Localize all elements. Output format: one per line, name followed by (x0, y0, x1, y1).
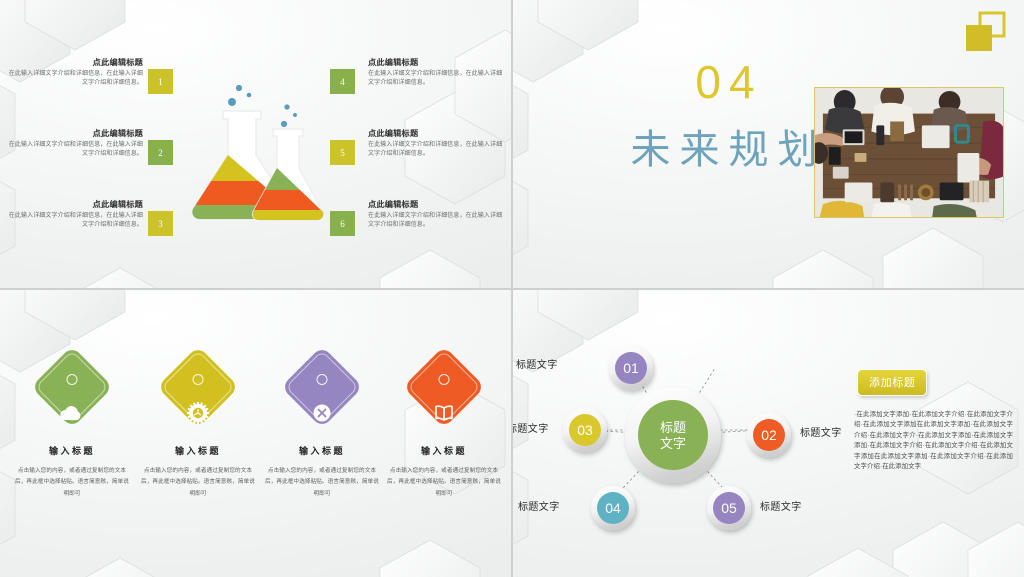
item-body: 在此输入详细文字介绍和详细信息，在此输入详细文字介绍和详细信息。 (368, 141, 505, 160)
diamond-circle-marker (317, 374, 328, 385)
center-label-line1: 标题 (660, 420, 686, 435)
list-item[interactable]: 5 点此编辑标题 在此输入详细文字介绍和详细信息，在此输入详细文字介绍和详细信息… (330, 129, 505, 191)
svg-text:02: 02 (761, 427, 777, 443)
svg-text:01: 01 (623, 360, 639, 376)
svg-text:03: 03 (577, 422, 593, 438)
item-title: 点此编辑标题 (368, 58, 505, 67)
item-body: 在此输入详细文字介绍和详细信息，在此输入详细文字介绍和详细信息。 (6, 212, 143, 231)
feature-card[interactable]: 输入标题 点击输入您的内容，或者通过复制您的文本后，再此框中选择粘贴。语言简意赅… (8, 356, 136, 500)
diamond-circle-marker (67, 374, 78, 385)
list-item[interactable]: 点此编辑标题 在此输入详细文字介绍和详细信息，在此输入详细文字介绍和详细信息。 … (6, 129, 181, 191)
feature-card[interactable]: 输入标题 点击输入您的内容，或者通过复制您的文本后，再此框中选择粘贴。语言简意赅… (134, 356, 262, 500)
slide-4-radial-diagram[interactable]: 标题 文字 01 02 03 04 (513, 290, 1024, 577)
diamond-circle-marker (193, 374, 204, 385)
card-title: 输入标题 (258, 444, 386, 457)
section-number: 04 (609, 59, 849, 105)
square-logo-mark (964, 11, 1007, 53)
item-number-badge: 6 (330, 211, 355, 236)
diamond-shape (31, 346, 113, 428)
radial-hub-diagram: 标题 文字 01 02 03 04 (523, 320, 823, 550)
diamond-circle-marker (439, 374, 450, 385)
feature-card[interactable]: 输入标题 点击输入您的内容，或者通过复制您的文本后，再此框中选择粘贴。语言简意赅… (258, 356, 386, 500)
item-body: 在此输入详细文字介绍和详细信息，在此输入详细文字介绍和详细信息。 (6, 141, 143, 160)
chemistry-flasks-icon (183, 62, 333, 227)
item-number-badge: 3 (148, 211, 173, 236)
diamond-shape (157, 346, 239, 428)
list-item[interactable]: 点此编辑标题 在此输入详细文字介绍和详细信息，在此输入详细文字介绍和详细信息。 … (6, 200, 181, 262)
right-item-column: 4 点此编辑标题 在此输入详细文字介绍和详细信息，在此输入详细文字介绍和详细信息… (330, 58, 505, 271)
card-title: 输入标题 (8, 444, 136, 457)
item-title: 点此编辑标题 (368, 129, 505, 138)
svg-text:04: 04 (605, 500, 621, 516)
team-meeting-overhead-photo (814, 87, 1004, 218)
item-title: 点此编辑标题 (368, 200, 505, 209)
item-number-badge: 1 (148, 69, 173, 94)
svg-text:05: 05 (721, 500, 737, 516)
diamond-shape (403, 346, 485, 428)
card-body: 点击输入您的内容，或者通过复制您的文本后，再此框中选择粘贴。语言简意赅，简单说明… (258, 466, 386, 500)
list-item[interactable]: 4 点此编辑标题 在此输入详细文字介绍和详细信息，在此输入详细文字介绍和详细信息… (330, 58, 505, 120)
item-title: 点此编辑标题 (6, 200, 143, 209)
node-label-04: 标题文字 (518, 498, 560, 513)
slide-3-four-features[interactable]: 输入标题 点击输入您的内容，或者通过复制您的文本后，再此框中选择粘贴。语言简意赅… (0, 290, 511, 577)
card-body: 点击输入您的内容，或者通过复制您的文本后，再此框中选择粘贴。语言简意赅，简单说明… (134, 466, 262, 500)
slide-2-section-title[interactable]: 04 未来规划 (513, 0, 1024, 288)
item-body: 在此输入详细文字介绍和详细信息，在此输入详细文字介绍和详细信息。 (368, 212, 505, 231)
node-label-03: 标题文字 (513, 420, 549, 435)
item-number-badge: 4 (330, 69, 355, 94)
slide-deck-grid: 点此编辑标题 在此输入详细文字介绍和详细信息，在此输入详细文字介绍和详细信息。 … (0, 0, 1024, 577)
card-body: 点击输入您的内容，或者通过复制您的文本后，再此框中选择粘贴。语言简意赅，简单说明… (380, 466, 508, 500)
item-number-badge: 2 (148, 140, 173, 165)
item-title: 点此编辑标题 (6, 58, 143, 67)
list-item[interactable]: 6 点此编辑标题 在此输入详细文字介绍和详细信息，在此输入详细文字介绍和详细信息… (330, 200, 505, 262)
card-body: 点击输入您的内容，或者通过复制您的文本后，再此框中选择粘贴。语言简意赅，简单说明… (8, 466, 136, 500)
item-title: 点此编辑标题 (6, 129, 143, 138)
card-title: 输入标题 (134, 444, 262, 457)
item-body: 在此输入详细文字介绍和详细信息，在此输入详细文字介绍和详细信息。 (368, 70, 505, 89)
center-label-line2: 文字 (660, 436, 686, 451)
item-number-badge: 5 (330, 140, 355, 165)
node-label-02: 标题文字 (800, 424, 842, 439)
diamond-shape (281, 346, 363, 428)
list-item[interactable]: 点此编辑标题 在此输入详细文字介绍和详细信息，在此输入详细文字介绍和详细信息。 … (6, 58, 181, 120)
slide-1-six-point-flask[interactable]: 点此编辑标题 在此输入详细文字介绍和详细信息，在此输入详细文字介绍和详细信息。 … (0, 0, 511, 288)
item-body: 在此输入详细文字介绍和详细信息，在此输入详细文字介绍和详细信息。 (6, 70, 143, 89)
card-title: 输入标题 (380, 444, 508, 457)
feature-card[interactable]: 输入标题 点击输入您的内容，或者通过复制您的文本后，再此框中选择粘贴。语言简意赅… (380, 356, 508, 500)
panel-body-text: ·在此添加文字添加·在此添加文字介绍·在此添加文字介绍·在此添加文字添加在此添加… (854, 410, 1013, 472)
left-item-column: 点此编辑标题 在此输入详细文字介绍和详细信息，在此输入详细文字介绍和详细信息。 … (6, 58, 181, 271)
node-label-01: 标题文字 (516, 356, 558, 371)
node-label-05: 标题文字 (760, 498, 802, 513)
add-title-badge[interactable]: 添加标题 (857, 369, 927, 396)
